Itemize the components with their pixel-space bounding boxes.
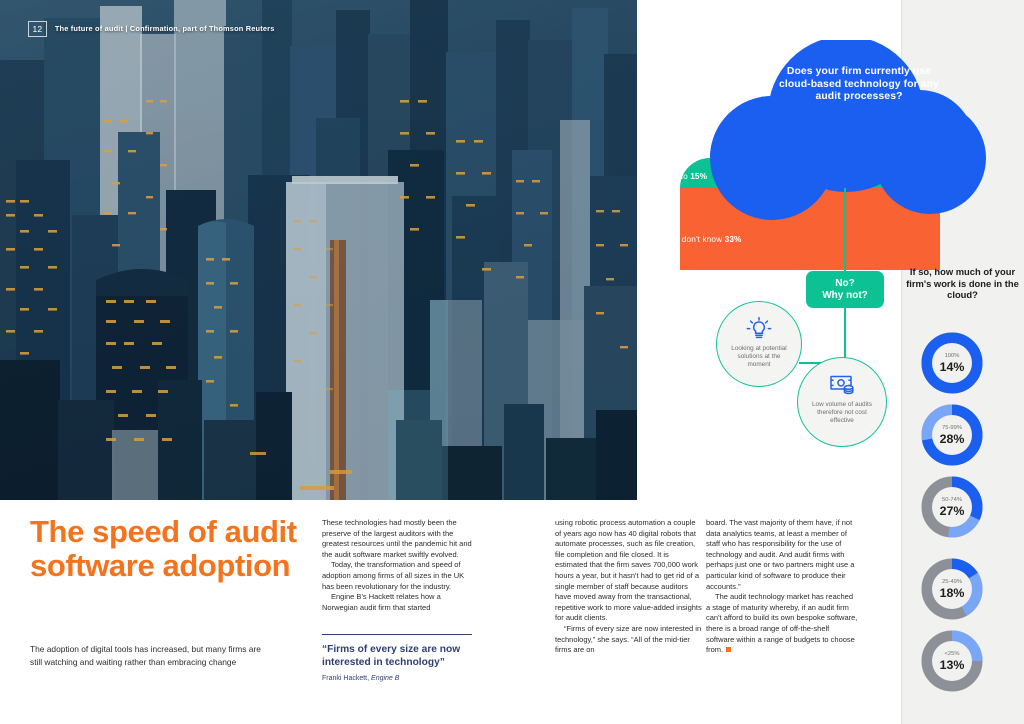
segment-label-dont-know: I don't know 33%	[677, 234, 742, 244]
page-title: The speed of audit software adoption	[30, 515, 298, 583]
donut-75-99: 75-99% 28%	[921, 404, 983, 466]
reason-text-1: Looking at potential solutions at the mo…	[717, 345, 801, 370]
body-paragraph: Today, the transformation and speed of a…	[322, 560, 472, 592]
lightbulb-icon	[744, 316, 774, 342]
donut-value-0: 14%	[940, 360, 965, 374]
segment-label-no: No 15%	[677, 171, 707, 181]
donut-chart-title: If so, how much of your firm's work is d…	[906, 266, 1019, 301]
body-text: The audit technology market has reached …	[706, 592, 857, 654]
connector-why-down	[844, 308, 846, 364]
body-column-2: using robotic process automation a coupl…	[555, 518, 703, 656]
money-icon	[827, 372, 857, 398]
attribution-org: Engine B	[371, 675, 399, 682]
donut-value-2: 27%	[940, 504, 965, 518]
body-paragraph: board. The vast majority of them have, i…	[706, 518, 858, 592]
cloud-chart-question: Does your firm currently use cloud-based…	[770, 66, 948, 104]
pullquote-text: “Firms of every size are now interested …	[322, 643, 472, 669]
pullquote-rule	[322, 634, 472, 635]
node-line-1: No?	[835, 278, 854, 290]
magazine-spread: 12 The future of audit | Confirmation, p…	[0, 0, 1024, 724]
connector-cloud-to-why	[844, 188, 846, 273]
reason-circle-money: Low volume of audits therefore not cost …	[797, 357, 887, 447]
body-paragraph: These technologies had mostly been the p…	[322, 518, 472, 560]
body-column-3: board. The vast majority of them have, i…	[706, 518, 858, 656]
page-number: 12	[28, 21, 47, 37]
body-paragraph: “Firms of every size are now interested …	[555, 624, 703, 656]
running-head: 12 The future of audit | Confirmation, p…	[28, 21, 274, 37]
donut-category-0: 100%	[945, 352, 960, 360]
donut-100: 100% 14%	[921, 332, 983, 394]
pullquote-attribution: Franki Hackett, Engine B	[322, 674, 472, 684]
donut-value-1: 28%	[940, 432, 965, 446]
donut-category-3: 25-49%	[942, 578, 962, 586]
running-head-text: The future of audit | Confirmation, part…	[55, 24, 275, 33]
donut-under-25: <25% 13%	[921, 630, 983, 692]
donut-category-1: 75-99%	[942, 424, 962, 432]
pullquote: “Firms of every size are now interested …	[322, 634, 472, 684]
donut-category-2: 50-74%	[942, 496, 962, 504]
node-line-2: Why not?	[822, 290, 868, 302]
reason-text-2: Low volume of audits therefore not cost …	[798, 401, 886, 426]
segment-label-yes: Yes 52%	[658, 141, 691, 151]
donut-center-4: <25% 13%	[932, 641, 972, 681]
body-column-1: These technologies had mostly been the p…	[322, 518, 472, 613]
donut-value-4: 13%	[940, 658, 965, 672]
node-no-why-not: No? Why not?	[806, 271, 884, 308]
donut-center-1: 75-99% 28%	[932, 415, 972, 455]
donut-25-49: 25-49% 18%	[921, 558, 983, 620]
donut-value-3: 18%	[940, 586, 965, 600]
skyline-svg	[0, 0, 637, 500]
end-mark	[726, 647, 731, 652]
body-paragraph-last: The audit technology market has reached …	[706, 592, 858, 656]
donut-50-74: 50-74% 27%	[921, 476, 983, 538]
donut-center-2: 50-74% 27%	[932, 487, 972, 527]
donut-center-0: 100% 14%	[932, 343, 972, 383]
donut-center-3: 25-49% 18%	[932, 569, 972, 609]
attribution-name: Franki Hackett,	[322, 675, 369, 682]
skyline-illustration	[0, 0, 637, 500]
donut-category-4: <25%	[945, 650, 960, 658]
hero-city-photo: 12 The future of audit | Confirmation, p…	[0, 0, 637, 500]
body-paragraph: Engine B's Hackett relates how a Norwegi…	[322, 592, 472, 613]
body-paragraph: using robotic process automation a coupl…	[555, 518, 703, 624]
standfirst: The adoption of digital tools has increa…	[30, 643, 262, 668]
reason-circle-lightbulb: Looking at potential solutions at the mo…	[716, 301, 802, 387]
